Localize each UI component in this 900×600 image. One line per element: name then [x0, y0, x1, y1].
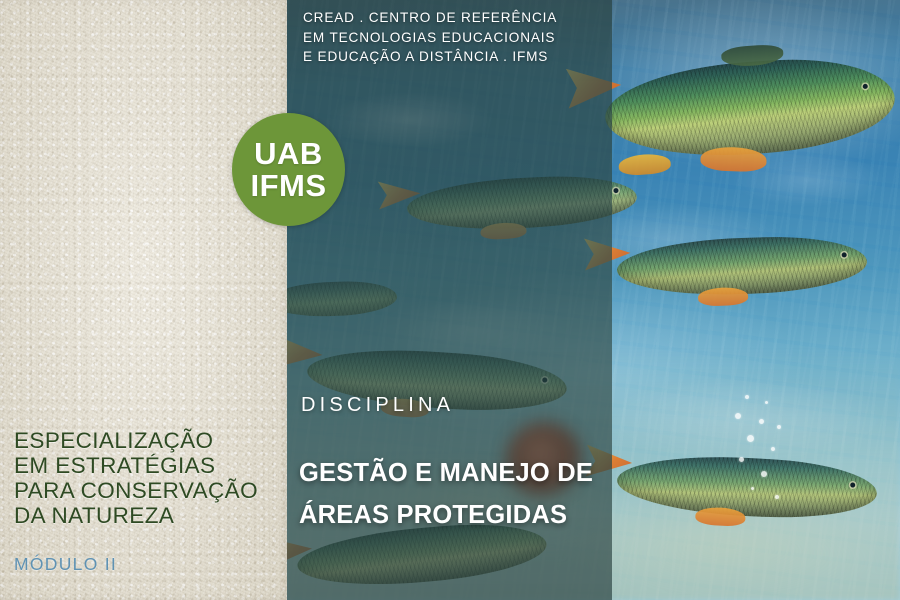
fish-right-upper — [616, 234, 868, 299]
discipline-label: DISCIPLINA — [301, 394, 454, 417]
course-title: ESPECIALIZAÇÃO EM ESTRATÉGIAS PARA CONSE… — [14, 428, 282, 528]
institution-header: CREAD . CENTRO DE REFERÊNCIA EM TECNOLOG… — [303, 8, 613, 67]
module-label: MÓDULO II — [14, 554, 117, 575]
bubbles — [717, 395, 797, 505]
logo-line-ifms: IFMS — [250, 170, 326, 202]
logo-line-uab: UAB — [254, 138, 323, 170]
course-cover: ESPECIALIZAÇÃO EM ESTRATÉGIAS PARA CONSE… — [0, 0, 900, 600]
uab-ifms-logo: UAB IFMS — [232, 113, 345, 226]
discipline-title: GESTÃO E MANEJO DE ÁREAS PROTEGIDAS — [299, 452, 619, 536]
